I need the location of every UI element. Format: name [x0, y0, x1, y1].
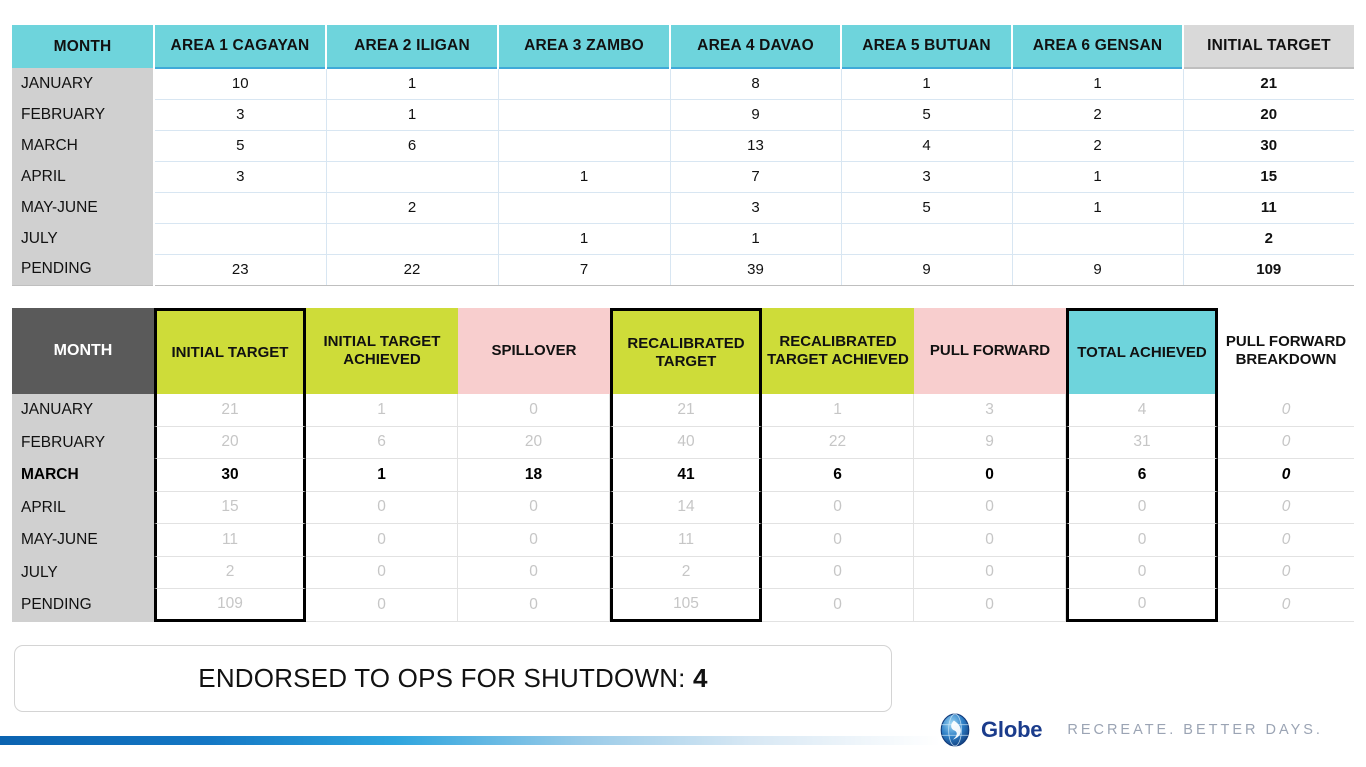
t2-cell-initial-target-achieved: 0 [306, 524, 458, 557]
t2-cell-recalibrated-target: 14 [610, 492, 762, 525]
t2-cell-initial-target: 30 [154, 459, 306, 492]
t2-cell-recalibrated-target-achieved: 0 [762, 524, 914, 557]
t1-cell [841, 223, 1012, 254]
footer-branding: Globe RECREATE. BETTER DAYS. [938, 713, 1323, 747]
t1-cell: 39 [670, 254, 841, 285]
t2-cell-pull-forward: 0 [914, 459, 1066, 492]
t1-row-label: MAY-JUNE [12, 192, 154, 223]
t1-cell-initial-target: 11 [1183, 192, 1354, 223]
t2-cell-initial-target: 15 [154, 492, 306, 525]
t1-cell: 1 [1012, 68, 1183, 99]
t2-cell-total-achieved: 0 [1066, 524, 1218, 557]
t1-cell: 9 [841, 254, 1012, 285]
t2-row-label: MAY-JUNE [12, 524, 154, 557]
t1-cell-initial-target: 15 [1183, 161, 1354, 192]
t1-cell: 4 [841, 130, 1012, 161]
table-row: JULY 2 0 0 2 0 0 0 0 [12, 557, 1354, 590]
t2-cell-initial-target: 2 [154, 557, 306, 590]
table-row: FEBRUARY 20 6 20 40 22 9 31 0 [12, 427, 1354, 460]
table1-header: MONTH AREA 1 CAGAYAN AREA 2 ILIGAN AREA … [12, 25, 1354, 68]
t2-cell-pull-forward: 9 [914, 427, 1066, 460]
t2-cell-total-achieved: 0 [1066, 557, 1218, 590]
t1-cell: 1 [326, 68, 498, 99]
t2-cell-recalibrated-target: 40 [610, 427, 762, 460]
t1-cell: 1 [670, 223, 841, 254]
t2-col-pull-forward: PULL FORWARD [914, 308, 1066, 394]
t1-cell [498, 99, 670, 130]
t2-cell-pull-forward-breakdown: 0 [1218, 427, 1354, 460]
t1-cell: 1 [841, 68, 1012, 99]
t1-col-area6: AREA 6 GENSAN [1012, 25, 1183, 68]
banner-value: 4 [693, 663, 708, 693]
t2-cell-spillover: 18 [458, 459, 610, 492]
t1-col-area4: AREA 4 DAVAO [670, 25, 841, 68]
t2-cell-recalibrated-target-achieved: 1 [762, 394, 914, 427]
t2-cell-pull-forward-breakdown: 0 [1218, 557, 1354, 590]
t2-cell-pull-forward-breakdown: 0 [1218, 459, 1354, 492]
t1-cell [154, 223, 326, 254]
t2-cell-spillover: 0 [458, 589, 610, 622]
table1-body: JANUARY10181121 FEBRUARY3195220 MARCH561… [12, 68, 1354, 285]
t1-row-label: APRIL [12, 161, 154, 192]
table-row: MAY-JUNE 11 0 0 11 0 0 0 0 [12, 524, 1354, 557]
t1-cell: 10 [154, 68, 326, 99]
t2-col-total-achieved: TOTAL ACHIEVED [1066, 308, 1218, 394]
t2-row-label: JULY [12, 557, 154, 590]
t1-row-label: PENDING [12, 254, 154, 285]
t2-cell-initial-target-achieved: 6 [306, 427, 458, 460]
t1-cell-initial-target: 30 [1183, 130, 1354, 161]
endorsed-summary-banner: ENDORSED TO OPS FOR SHUTDOWN: 4 [14, 645, 892, 712]
t1-col-month: MONTH [12, 25, 154, 68]
t2-col-initial-target-achieved: INITIAL TARGET ACHIEVED [306, 308, 458, 394]
t1-cell: 5 [154, 130, 326, 161]
t2-cell-total-achieved: 31 [1066, 427, 1218, 460]
table-row: PENDING232273999109 [12, 254, 1354, 285]
recalibrated-summary-table: MONTH INITIAL TARGET INITIAL TARGET ACHI… [12, 308, 1354, 622]
t2-col-recalibrated-target-achieved: RECALIBRATED TARGET ACHIEVED [762, 308, 914, 394]
footer-gradient-bar [0, 736, 940, 745]
t2-cell-initial-target: 20 [154, 427, 306, 460]
t2-cell-initial-target-achieved: 0 [306, 589, 458, 622]
table1-header-row: MONTH AREA 1 CAGAYAN AREA 2 ILIGAN AREA … [12, 25, 1354, 68]
t1-cell: 1 [326, 99, 498, 130]
table-row: JANUARY10181121 [12, 68, 1354, 99]
t1-cell: 3 [154, 99, 326, 130]
t2-cell-total-achieved: 0 [1066, 492, 1218, 525]
t1-cell [498, 130, 670, 161]
t2-cell-spillover: 0 [458, 524, 610, 557]
t2-cell-pull-forward: 3 [914, 394, 1066, 427]
t2-cell-pull-forward: 0 [914, 589, 1066, 622]
t1-cell-initial-target: 20 [1183, 99, 1354, 130]
t1-cell: 2 [326, 192, 498, 223]
t2-col-pull-forward-breakdown: PULL FORWARD BREAKDOWN [1218, 308, 1354, 394]
t2-cell-pull-forward: 0 [914, 524, 1066, 557]
t2-cell-initial-target: 11 [154, 524, 306, 557]
t2-cell-recalibrated-target: 11 [610, 524, 762, 557]
t1-row-label: MARCH [12, 130, 154, 161]
t2-col-initial-target: INITIAL TARGET [154, 308, 306, 394]
t2-cell-pull-forward-breakdown: 0 [1218, 589, 1354, 622]
t1-cell: 23 [154, 254, 326, 285]
table-row: PENDING 109 0 0 105 0 0 0 0 [12, 589, 1354, 622]
t1-cell: 9 [670, 99, 841, 130]
t1-cell: 7 [498, 254, 670, 285]
t1-cell: 5 [841, 192, 1012, 223]
t2-cell-recalibrated-target-achieved: 22 [762, 427, 914, 460]
t1-cell [326, 223, 498, 254]
t1-cell-initial-target: 2 [1183, 223, 1354, 254]
t1-cell: 3 [841, 161, 1012, 192]
t1-cell [498, 192, 670, 223]
t2-cell-initial-target-achieved: 0 [306, 492, 458, 525]
t1-cell [326, 161, 498, 192]
t2-cell-recalibrated-target: 21 [610, 394, 762, 427]
t2-cell-spillover: 20 [458, 427, 610, 460]
t2-cell-recalibrated-target-achieved: 6 [762, 459, 914, 492]
t2-row-label: FEBRUARY [12, 427, 154, 460]
t1-cell: 1 [498, 223, 670, 254]
t1-cell: 22 [326, 254, 498, 285]
banner-label: ENDORSED TO OPS FOR SHUTDOWN: [198, 663, 685, 693]
t1-cell: 9 [1012, 254, 1183, 285]
table-row: MARCH 30 1 18 41 6 0 6 0 [12, 459, 1354, 492]
t1-cell: 2 [1012, 99, 1183, 130]
t2-cell-total-achieved: 4 [1066, 394, 1218, 427]
t2-cell-pull-forward-breakdown: 0 [1218, 524, 1354, 557]
t2-cell-initial-target-achieved: 0 [306, 557, 458, 590]
t1-row-label: JULY [12, 223, 154, 254]
t2-col-recalibrated-target: RECALIBRATED TARGET [610, 308, 762, 394]
t1-cell: 3 [670, 192, 841, 223]
t1-cell: 1 [1012, 161, 1183, 192]
t2-col-spillover: SPILLOVER [458, 308, 610, 394]
t2-cell-pull-forward-breakdown: 0 [1218, 394, 1354, 427]
t2-row-label: APRIL [12, 492, 154, 525]
t1-row-label: JANUARY [12, 68, 154, 99]
table-row: FEBRUARY3195220 [12, 99, 1354, 130]
t2-cell-recalibrated-target: 105 [610, 589, 762, 622]
t1-cell: 1 [498, 161, 670, 192]
slide-root: MONTH AREA 1 CAGAYAN AREA 2 ILIGAN AREA … [0, 0, 1366, 767]
t1-cell: 13 [670, 130, 841, 161]
t1-cell: 8 [670, 68, 841, 99]
banner-text: ENDORSED TO OPS FOR SHUTDOWN: 4 [198, 663, 707, 694]
t1-col-initial-target: INITIAL TARGET [1183, 25, 1354, 68]
t1-cell: 2 [1012, 130, 1183, 161]
t1-col-area1: AREA 1 CAGAYAN [154, 25, 326, 68]
table-row: APRIL 15 0 0 14 0 0 0 0 [12, 492, 1354, 525]
t1-cell [1012, 223, 1183, 254]
t2-cell-spillover: 0 [458, 394, 610, 427]
globe-tagline: RECREATE. BETTER DAYS. [1067, 722, 1323, 738]
t2-cell-pull-forward: 0 [914, 557, 1066, 590]
t2-row-label: MARCH [12, 459, 154, 492]
t2-cell-initial-target-achieved: 1 [306, 394, 458, 427]
t2-cell-initial-target-achieved: 1 [306, 459, 458, 492]
table-row: APRIL3173115 [12, 161, 1354, 192]
t2-cell-total-achieved: 6 [1066, 459, 1218, 492]
table2-header-row: MONTH INITIAL TARGET INITIAL TARGET ACHI… [12, 308, 1354, 394]
t2-cell-pull-forward: 0 [914, 492, 1066, 525]
t1-cell [498, 68, 670, 99]
t2-cell-recalibrated-target-achieved: 0 [762, 557, 914, 590]
t2-cell-pull-forward-breakdown: 0 [1218, 492, 1354, 525]
t1-col-area5: AREA 5 BUTUAN [841, 25, 1012, 68]
t2-cell-initial-target: 109 [154, 589, 306, 622]
t1-cell [154, 192, 326, 223]
t2-cell-recalibrated-target-achieved: 0 [762, 492, 914, 525]
globe-icon [938, 713, 972, 747]
t1-cell: 7 [670, 161, 841, 192]
t2-cell-initial-target: 21 [154, 394, 306, 427]
t1-cell-initial-target: 109 [1183, 254, 1354, 285]
table-row: MARCH56134230 [12, 130, 1354, 161]
t1-cell: 1 [1012, 192, 1183, 223]
t1-cell: 3 [154, 161, 326, 192]
globe-wordmark: Globe [981, 717, 1042, 743]
t1-col-area3: AREA 3 ZAMBO [498, 25, 670, 68]
table-row: JULY112 [12, 223, 1354, 254]
t1-cell: 6 [326, 130, 498, 161]
t2-cell-spillover: 0 [458, 557, 610, 590]
area-targets-table: MONTH AREA 1 CAGAYAN AREA 2 ILIGAN AREA … [12, 25, 1354, 286]
t1-cell-initial-target: 21 [1183, 68, 1354, 99]
table2-body: JANUARY 21 1 0 21 1 3 4 0 FEBRUARY 20 6 … [12, 394, 1354, 622]
t2-cell-spillover: 0 [458, 492, 610, 525]
t2-row-label: PENDING [12, 589, 154, 622]
table2-header: MONTH INITIAL TARGET INITIAL TARGET ACHI… [12, 308, 1354, 394]
t2-cell-total-achieved: 0 [1066, 589, 1218, 622]
t2-col-month: MONTH [12, 308, 154, 394]
table-row: MAY-JUNE235111 [12, 192, 1354, 223]
t1-col-area2: AREA 2 ILIGAN [326, 25, 498, 68]
t2-cell-recalibrated-target: 2 [610, 557, 762, 590]
t1-cell: 5 [841, 99, 1012, 130]
t1-row-label: FEBRUARY [12, 99, 154, 130]
t2-cell-recalibrated-target: 41 [610, 459, 762, 492]
t2-cell-recalibrated-target-achieved: 0 [762, 589, 914, 622]
t2-row-label: JANUARY [12, 394, 154, 427]
table-row: JANUARY 21 1 0 21 1 3 4 0 [12, 394, 1354, 427]
